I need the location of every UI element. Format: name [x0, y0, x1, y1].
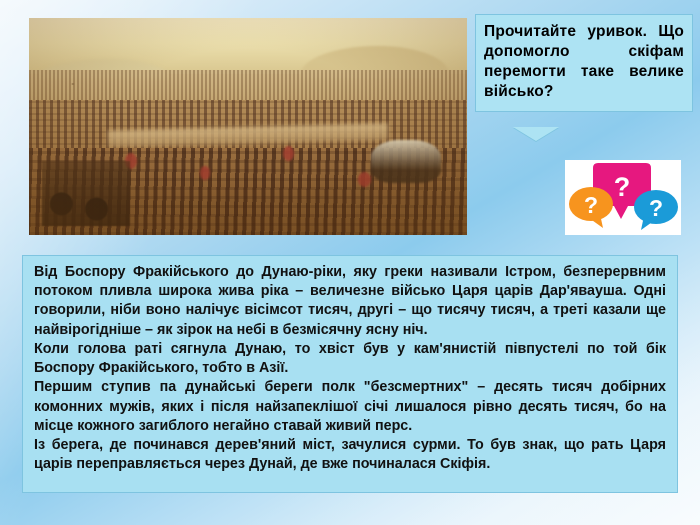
question-callout-tail	[513, 127, 559, 141]
svg-text:?: ?	[649, 195, 663, 221]
question-text: Прочитайте уривок. Що допомогло скіфам п…	[484, 22, 684, 103]
speech-bubbles-icon: ? ? ?	[565, 160, 681, 235]
svg-text:?: ?	[614, 172, 631, 202]
passage-paragraph-2: Коли голова раті сягнула Дунаю, то хвіст…	[34, 340, 666, 378]
svg-text:?: ?	[584, 192, 598, 218]
passage-textbox: Від Боспору Фракійського до Дунаю-ріки, …	[22, 255, 678, 493]
passage-paragraph-3: Першим ступив па дунайські береги полк "…	[34, 378, 666, 436]
question-bubbles-image: ? ? ?	[565, 160, 681, 235]
photo-vignette	[29, 18, 467, 235]
army-photograph	[29, 18, 467, 235]
question-callout: Прочитайте уривок. Що допомогло скіфам п…	[475, 14, 693, 112]
passage-paragraph-4: Із берега, де починався дерев'яний міст,…	[34, 436, 666, 474]
slide-canvas: Прочитайте уривок. Що допомогло скіфам п…	[0, 0, 700, 525]
passage-paragraph-1: Від Боспору Фракійського до Дунаю-ріки, …	[34, 263, 666, 340]
